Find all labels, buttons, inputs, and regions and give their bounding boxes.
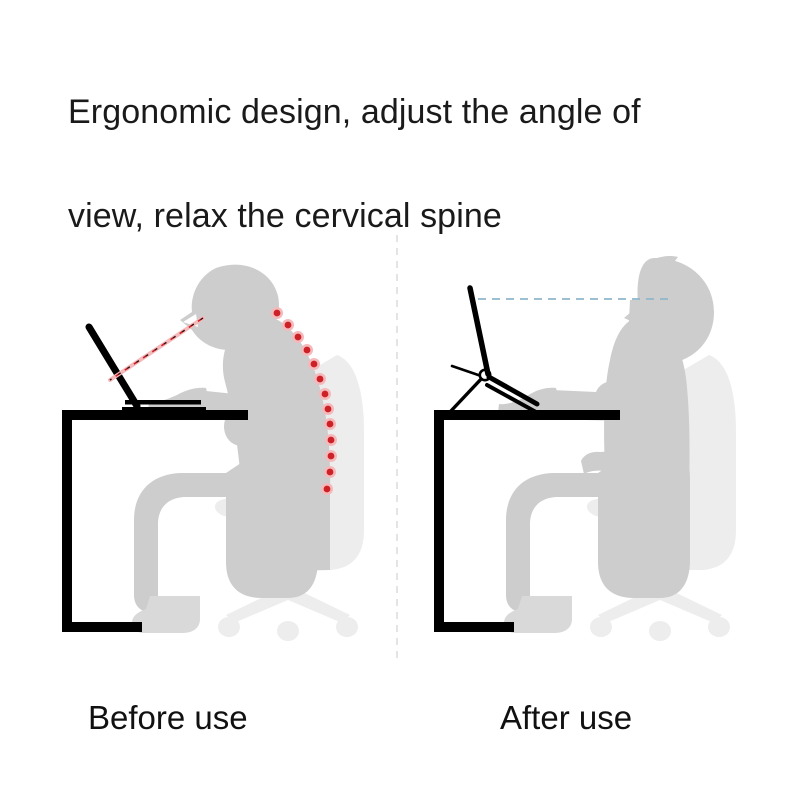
caption-before-use: Before use [88, 698, 248, 738]
sight-line-before [110, 318, 203, 380]
person-silhouette-icon-after [498, 256, 714, 633]
person-silhouette-icon-before [132, 265, 330, 633]
caption-after-use: After use [500, 698, 632, 738]
laptop-raised-icon [470, 288, 537, 412]
panel-before-use [62, 265, 364, 641]
panel-after-use [434, 256, 736, 641]
laptop-stand-icon [450, 366, 490, 412]
ergonomics-illustration [0, 0, 790, 790]
infographic-page: Ergonomic design, adjust the angle of vi… [0, 0, 790, 790]
